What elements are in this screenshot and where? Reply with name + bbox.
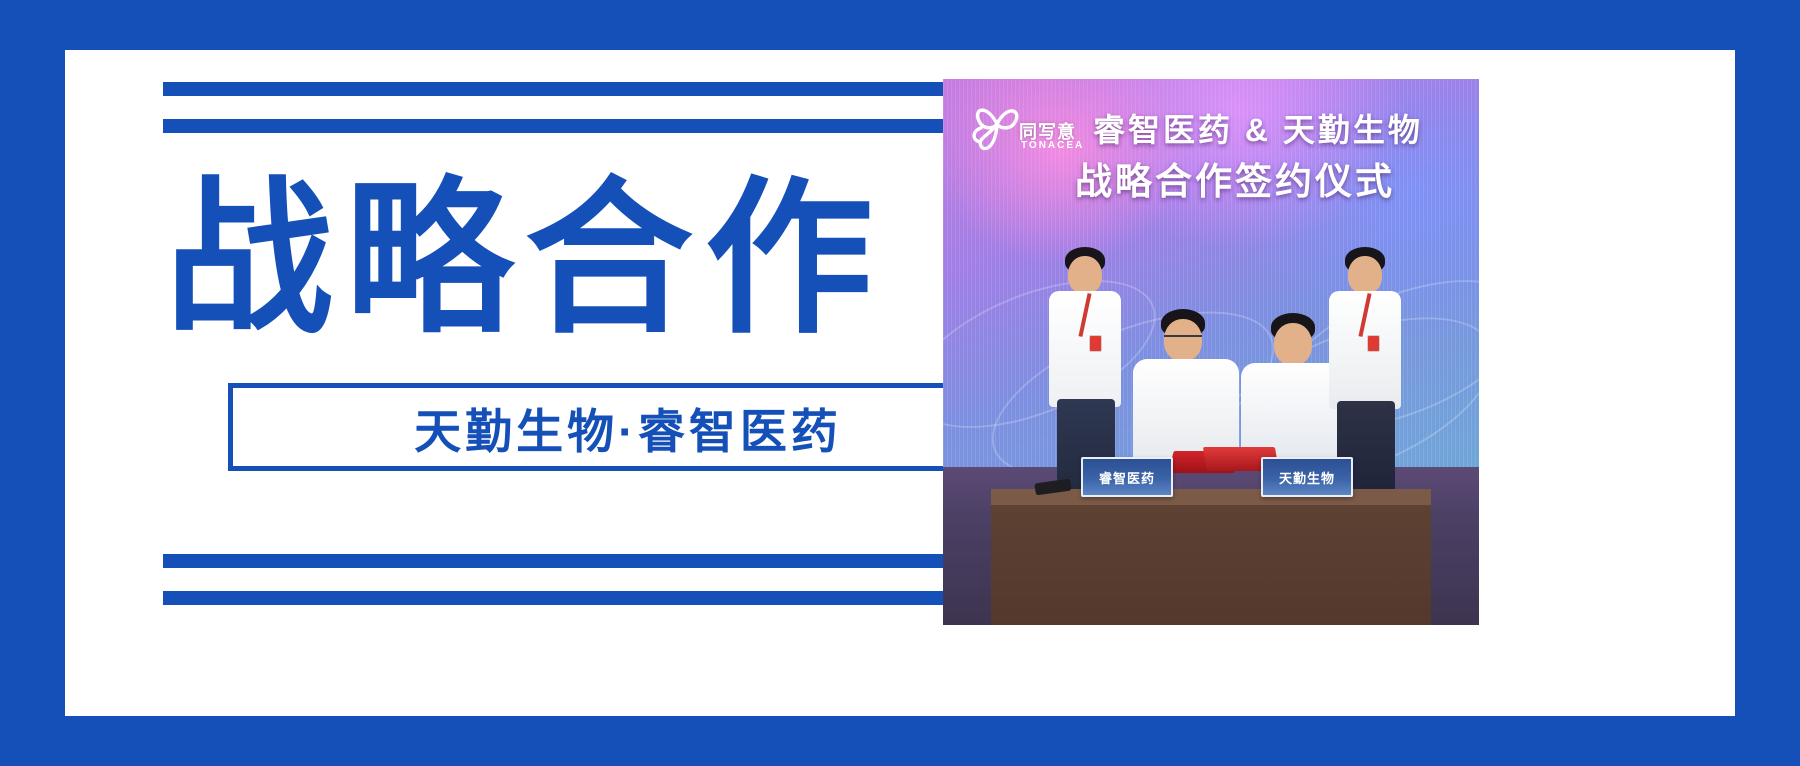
poster-root: 战略合作 天勤生物·睿智医药	[0, 0, 1800, 766]
placard-right: 天勤生物	[1261, 457, 1353, 497]
banner-line-2: 战略合作签约仪式	[1075, 151, 1395, 205]
subtitle-text: 天勤生物·睿智医药	[414, 393, 842, 462]
page-title: 战略合作	[165, 160, 1045, 358]
decorative-rule-top-2	[163, 119, 1038, 133]
tonacea-logo: 同写意 TONACEA	[967, 94, 1079, 170]
decorative-rule-bottom-2	[163, 591, 1038, 605]
badge	[1367, 335, 1380, 352]
placard-left: 睿智医药	[1081, 457, 1173, 497]
head	[1348, 256, 1382, 294]
head	[1274, 323, 1312, 365]
banner-line-1: 睿智医药 & 天勤生物	[1093, 105, 1423, 151]
glasses-icon	[1164, 335, 1202, 343]
head	[1068, 256, 1102, 294]
subtitle-box: 天勤生物·睿智医药	[228, 383, 1028, 471]
badge	[1089, 335, 1102, 352]
ceremony-photo: 同写意 TONACEA 睿智医药 & 天勤生物 战略合作签约仪式	[943, 79, 1479, 625]
decorative-rule-top-1	[163, 82, 1038, 96]
white-card: 战略合作 天勤生物·睿智医药	[65, 50, 1735, 716]
left-content-column: 战略合作 天勤生物·睿智医药	[95, 50, 1035, 716]
signing-table	[991, 489, 1431, 625]
decorative-rule-bottom-1	[163, 554, 1038, 568]
logo-text-en: TONACEA	[1021, 140, 1084, 151]
